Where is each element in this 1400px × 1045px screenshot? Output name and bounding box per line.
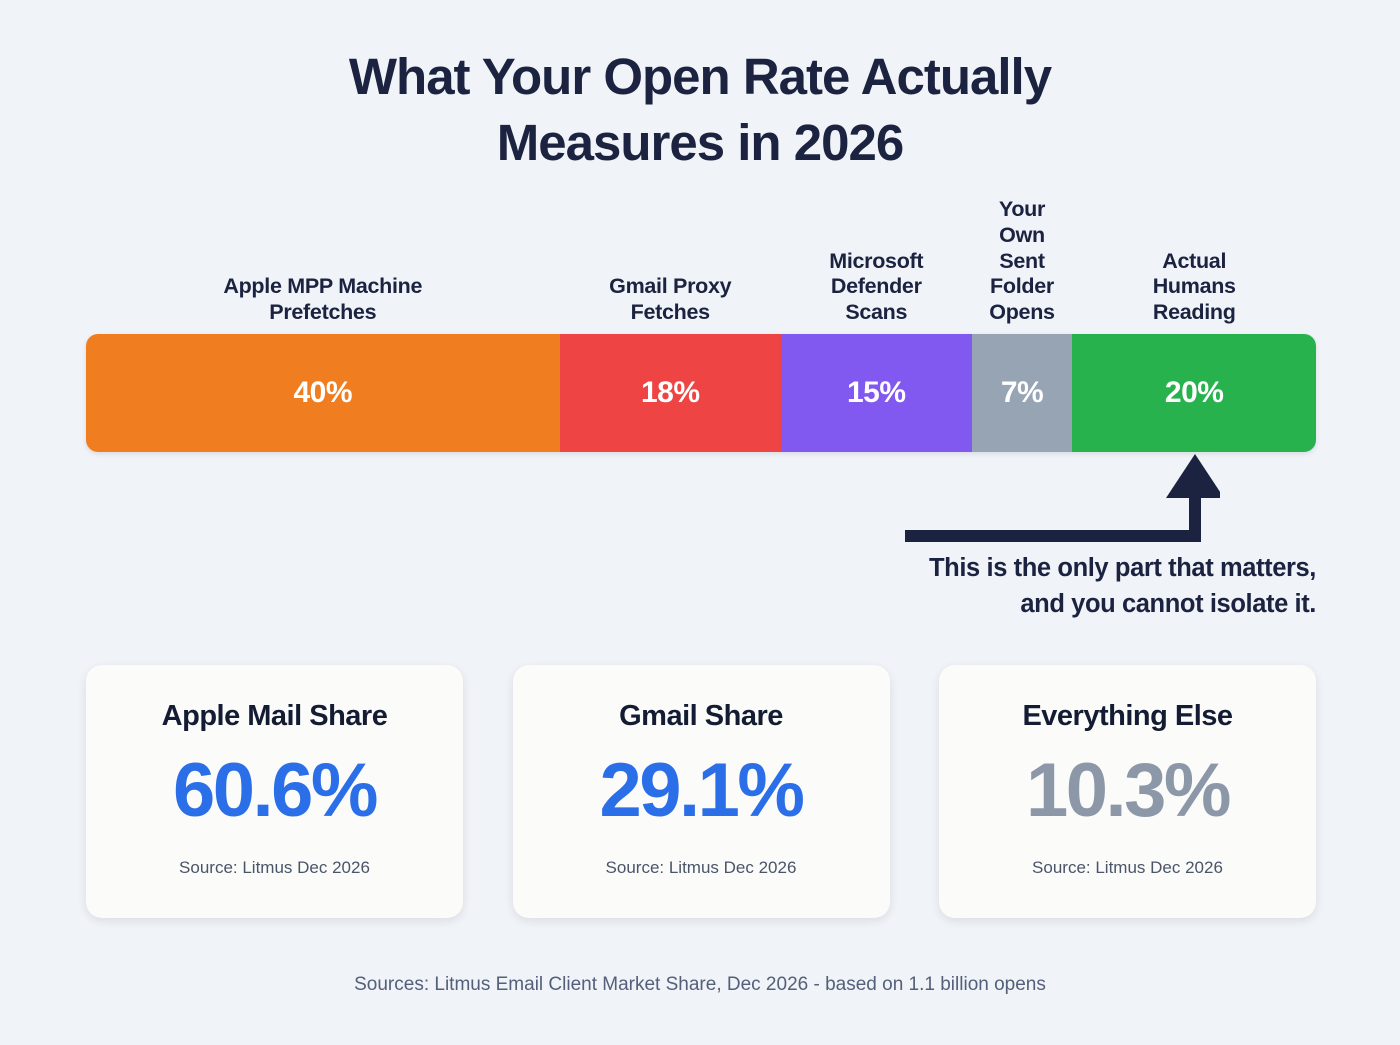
bar-segment-5: 20% — [1072, 334, 1316, 452]
footer-sources: Sources: Litmus Email Client Market Shar… — [0, 974, 1400, 996]
stat-card-source-3: Source: Litmus Dec 2026 — [1032, 858, 1223, 878]
bar-segment-1: 40% — [86, 334, 560, 452]
bar-segment-labels: Apple MPP MachinePrefetchesGmail ProxyFe… — [86, 222, 1316, 326]
bar-segment-label-2-line-1: Gmail Proxy — [562, 274, 779, 300]
bar-segment-label-4: Your OwnSent FolderOpens — [972, 197, 1073, 326]
title-line-2: Measures in 2026 — [0, 110, 1400, 176]
stacked-bar-chart: 40%18%15%7%20% — [86, 334, 1316, 452]
stat-card-value-3: 10.3% — [1026, 747, 1229, 834]
bar-segment-label-4-line-1: Your Own — [974, 197, 1071, 249]
stat-card-title-2: Gmail Share — [619, 700, 783, 733]
annotation-line-1: This is the only part that matters, — [929, 554, 1316, 582]
bar-segment-value-3: 15% — [847, 376, 906, 410]
title-line-1: What Your Open Rate Actually — [349, 48, 1051, 105]
bar-segment-label-3-line-3: Scans — [783, 300, 970, 326]
bar-segment-label-1: Apple MPP MachinePrefetches — [86, 274, 560, 326]
bar-segment-label-5-line-3: Reading — [1074, 300, 1314, 326]
stat-card-value-1: 60.6% — [173, 747, 376, 834]
bar-segment-4: 7% — [972, 334, 1073, 452]
stat-card-2: Gmail Share29.1%Source: Litmus Dec 2026 — [513, 665, 890, 918]
bar-segment-label-5-line-1: Actual — [1074, 249, 1314, 275]
bar-segment-label-1-line-1: Apple MPP Machine — [88, 274, 558, 300]
bar-segment-label-2: Gmail ProxyFetches — [560, 274, 781, 326]
bar-segment-label-3: MicrosoftDefenderScans — [781, 249, 972, 326]
bar-segment-value-1: 40% — [294, 376, 353, 410]
bar-segment-label-4-line-2: Sent Folder — [974, 249, 1071, 301]
bar-segment-label-3-line-2: Defender — [783, 274, 970, 300]
annotation-text: This is the only part that matters, and … — [680, 550, 1316, 622]
stat-card-source-2: Source: Litmus Dec 2026 — [606, 858, 797, 878]
stat-card-3: Everything Else10.3%Source: Litmus Dec 2… — [939, 665, 1316, 918]
bar-segment-value-2: 18% — [641, 376, 700, 410]
stat-card-source-1: Source: Litmus Dec 2026 — [179, 858, 370, 878]
bar-segment-label-3-line-1: Microsoft — [783, 249, 970, 275]
stat-card-value-2: 29.1% — [600, 747, 803, 834]
stat-card-group: Apple Mail Share60.6%Source: Litmus Dec … — [86, 665, 1316, 918]
arrow-icon — [890, 452, 1220, 552]
page-title: What Your Open Rate Actually Measures in… — [0, 44, 1400, 177]
bar-segment-value-4: 7% — [1001, 376, 1043, 410]
bar-segment-label-5: ActualHumansReading — [1072, 249, 1316, 326]
bar-segment-2: 18% — [560, 334, 781, 452]
bar-segment-label-2-line-2: Fetches — [562, 300, 779, 326]
stat-card-1: Apple Mail Share60.6%Source: Litmus Dec … — [86, 665, 463, 918]
infographic-canvas: What Your Open Rate Actually Measures in… — [0, 0, 1400, 1045]
bar-segment-value-5: 20% — [1165, 376, 1224, 410]
stat-card-title-3: Everything Else — [1022, 700, 1232, 733]
callout-arrow — [890, 452, 1220, 552]
bar-segment-label-4-line-3: Opens — [974, 300, 1071, 326]
stat-card-title-1: Apple Mail Share — [162, 700, 388, 733]
bar-segment-3: 15% — [781, 334, 972, 452]
bar-segment-label-1-line-2: Prefetches — [88, 300, 558, 326]
bar-segment-label-5-line-2: Humans — [1074, 274, 1314, 300]
annotation-line-2: and you cannot isolate it. — [680, 586, 1316, 622]
